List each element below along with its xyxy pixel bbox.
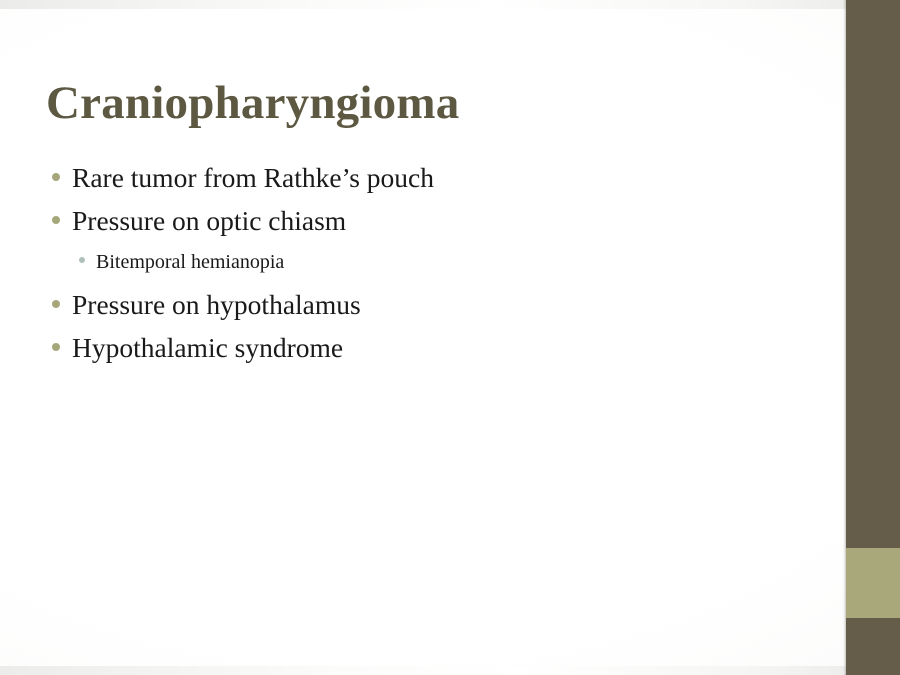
presentation-slide: Craniopharyngioma Rare tumor from Rathke… — [0, 0, 900, 675]
bullet-dot-icon — [52, 216, 60, 224]
bullet-item-4: Hypothalamic syndrome — [46, 326, 816, 369]
bullet-item-label: Pressure on optic chiasm — [72, 199, 346, 242]
bullet-item-label: Rare tumor from Rathke’s pouch — [72, 156, 434, 199]
sub-bullet-item-label: Bitemporal hemianopia — [96, 242, 284, 283]
bullet-item-label: Pressure on hypothalamus — [72, 283, 361, 326]
side-bar-band-bottom — [846, 618, 900, 675]
slide-background-bottom-edge — [0, 666, 900, 675]
bullet-dot-icon — [52, 343, 60, 351]
slide-title: Craniopharyngioma — [46, 77, 806, 130]
bullet-item-1: Rare tumor from Rathke’s pouch — [46, 156, 816, 199]
bullet-dot-icon — [52, 300, 60, 308]
bullet-item-2: Pressure on optic chiasm — [46, 199, 816, 242]
bullet-item-3: Pressure on hypothalamus — [46, 283, 816, 326]
slide-background-top-edge — [0, 0, 900, 9]
slide-bullet-list: Rare tumor from Rathke’s pouch Pressure … — [46, 156, 816, 369]
slide-side-decoration-bar — [843, 0, 900, 675]
sub-bullet-dot-icon — [79, 257, 85, 263]
sub-bullet-item-1: Bitemporal hemianopia — [46, 242, 816, 283]
bullet-item-label: Hypothalamic syndrome — [72, 326, 343, 369]
side-bar-band-accent — [846, 548, 900, 618]
side-bar-band-top — [846, 0, 900, 548]
bullet-dot-icon — [52, 173, 60, 181]
